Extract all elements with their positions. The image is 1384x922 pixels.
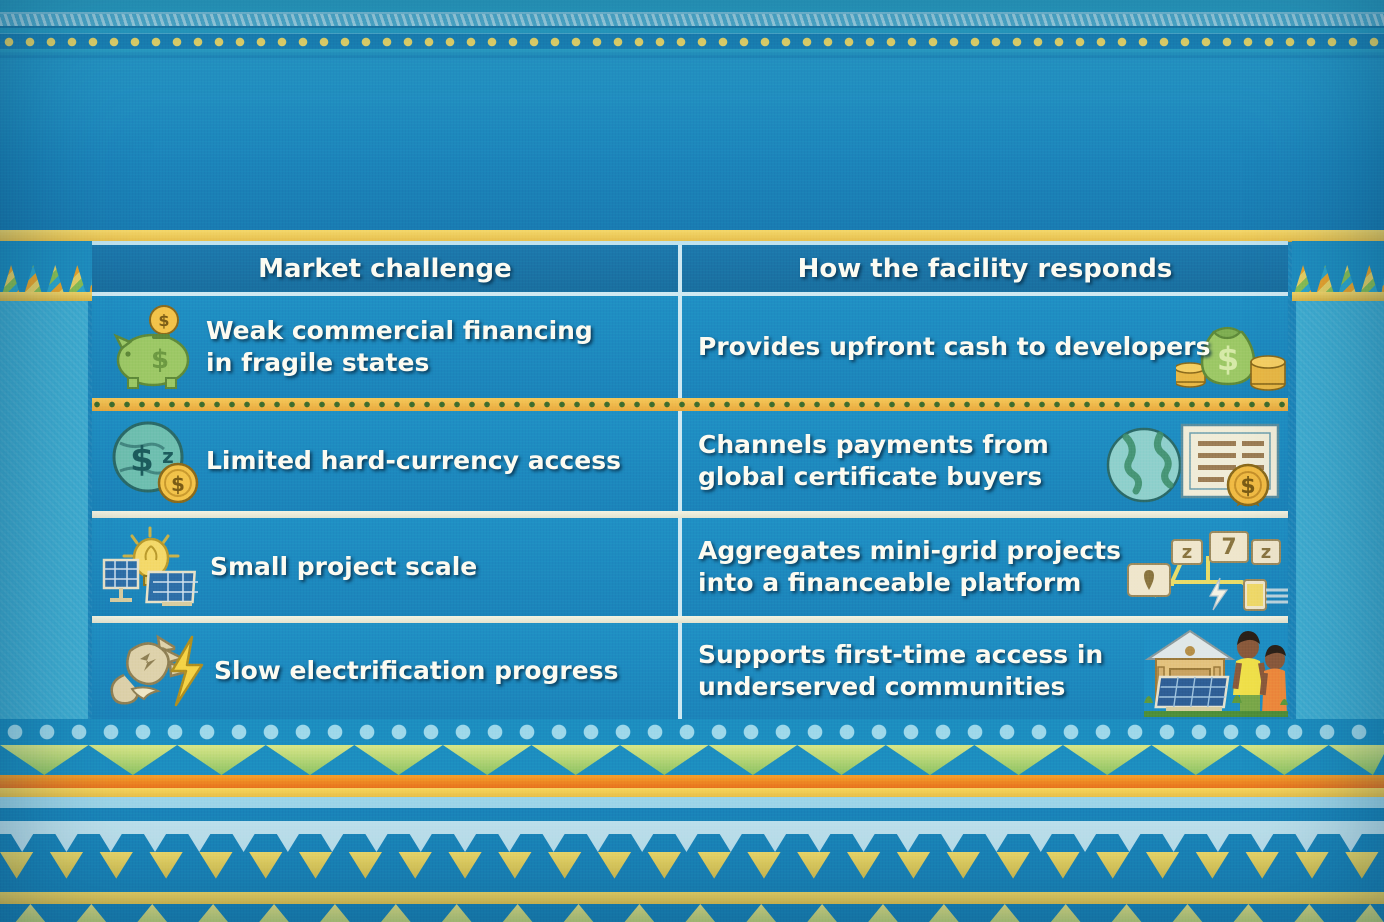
- cell-line-1: Limited hard-currency access: [206, 446, 621, 475]
- column-header-facility-responds: How the facility responds: [678, 245, 1288, 292]
- globe-certificate-seal-icon: $: [1106, 417, 1288, 507]
- cell-market-challenge: $ z $ Limited hard-currency access: [92, 411, 678, 511]
- table-header-row: Market challenge How the facility respon…: [92, 241, 1288, 296]
- cell-line-2: global certificate buyers: [698, 462, 1042, 491]
- zigzag-shape: [0, 745, 1384, 775]
- svg-text:$: $: [1240, 474, 1255, 499]
- cell-line-1: Aggregates mini-grid projects: [698, 536, 1121, 565]
- cell-text: Weak commercial financingin fragile stat…: [106, 315, 593, 380]
- top-border-strip: [0, 49, 1384, 58]
- table-row: Small project scale Aggregates mini-grid…: [92, 518, 1288, 616]
- cell-text: Slow electrification progress: [106, 655, 618, 688]
- cell-market-challenge: Slow electrification progress: [92, 623, 678, 719]
- svg-text:z: z: [1261, 542, 1271, 563]
- mini-grid-network-icon: z 7 z: [1120, 522, 1290, 614]
- cell-line-1: Channels payments from: [698, 430, 1049, 459]
- row-divider-dotted-gold: [92, 398, 1288, 411]
- light-blue-stripe-1: [0, 797, 1384, 808]
- svg-text:z: z: [1182, 542, 1192, 563]
- light-blue-stripe-2: [0, 821, 1384, 830]
- slide-header: [0, 58, 1384, 230]
- cell-text: Limited hard-currency access: [106, 445, 621, 478]
- bottom-decorative-border: [0, 719, 1384, 922]
- cell-line-1: Small project scale: [210, 552, 477, 581]
- light-dot-row-icon: [0, 719, 1384, 745]
- svg-text:$: $: [1217, 340, 1239, 378]
- cell-line-1: Weak commercial financing: [206, 316, 593, 345]
- blue-stripe-2: [0, 880, 1384, 892]
- diagonal-hatch-band-icon: [0, 12, 1384, 28]
- column-header-market-challenge: Market challenge: [92, 245, 678, 292]
- cell-line-1: Slow electrification progress: [214, 656, 618, 685]
- table-row: $ z $ Limited hard-currency access Chann…: [92, 411, 1288, 511]
- yellow-dot-row-icon: [0, 33, 1384, 49]
- cell-text: Aggregates mini-grid projectsinto a fina…: [698, 535, 1121, 600]
- house-solar-family-icon: [1144, 625, 1288, 717]
- cell-facility-response: Channels payments fromglobal certificate…: [678, 411, 1288, 511]
- cell-facility-response: Aggregates mini-grid projectsinto a fina…: [678, 518, 1288, 616]
- row-divider-cream: [92, 511, 1288, 518]
- green-zigzag-band-icon: [0, 745, 1384, 775]
- cell-market-challenge: $ $ Weak commercial financingin fragile …: [92, 296, 678, 398]
- table-row: Slow electrification progress Supports f…: [92, 623, 1288, 719]
- cell-line-2: underserved communities: [698, 672, 1065, 701]
- svg-text:7: 7: [1221, 535, 1236, 560]
- gold-rail-top: [0, 230, 1384, 241]
- cell-text: Supports first-time access inunderserved…: [698, 639, 1103, 704]
- scallop-shape: [0, 830, 1384, 852]
- side-ornament-right: [1292, 241, 1384, 301]
- cell-text: Small project scale: [106, 551, 477, 584]
- blue-stripe-1: [0, 808, 1384, 821]
- slide-canvas: Why the structure matters now. Sustainab…: [0, 0, 1384, 922]
- cell-line-1: Supports first-time access in: [698, 640, 1103, 669]
- side-ornament-band: [0, 292, 92, 301]
- yellow-stripe-lower: [0, 892, 1384, 904]
- orange-stripe: [0, 775, 1384, 788]
- cell-line-1: Provides upfront cash to developers: [698, 332, 1210, 361]
- row-divider-cream: [92, 616, 1288, 623]
- cell-market-challenge: Small project scale: [92, 518, 678, 616]
- cell-text: Channels payments fromglobal certificate…: [698, 429, 1049, 494]
- yellow-triangle-band-icon: [0, 852, 1384, 880]
- comparison-table: Market challenge How the facility respon…: [92, 241, 1288, 719]
- side-ornament-left: [0, 241, 92, 301]
- side-ornament-band: [1292, 292, 1384, 301]
- top-decorative-border: [0, 0, 1384, 58]
- cell-line-2: in fragile states: [206, 348, 429, 377]
- triangle-shape: [0, 852, 1384, 880]
- cell-line-2: into a financeable platform: [698, 568, 1081, 597]
- cell-text: Provides upfront cash to developers: [698, 331, 1210, 364]
- chevron-shape: [0, 904, 1384, 922]
- cell-facility-response: Supports first-time access inunderserved…: [678, 623, 1288, 719]
- yellow-stripe-upper: [0, 788, 1384, 797]
- cell-facility-response: Provides upfront cash to developers $: [678, 296, 1288, 398]
- table-row: $ $ Weak commercial financingin fragile …: [92, 296, 1288, 398]
- scallop-triangle-band-icon: [0, 830, 1384, 852]
- green-chevron-band-icon: [0, 904, 1384, 922]
